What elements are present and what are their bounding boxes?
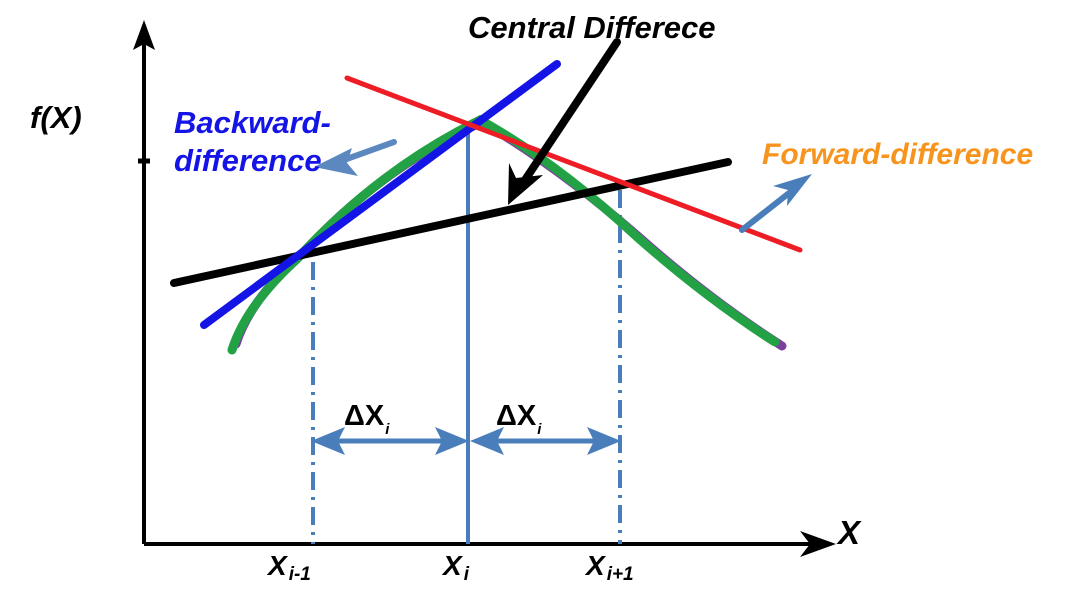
backward-difference-label-line2: difference	[174, 142, 331, 180]
delta-x-right-subscript: i	[537, 421, 541, 438]
x-tick-base-i-plus-1: X	[586, 550, 605, 581]
central-difference-label: Central Differece	[468, 12, 716, 43]
x-tick-label-i: Xi	[443, 550, 469, 582]
delta-x-left-label: ΔXi	[344, 400, 388, 433]
forward-difference-label: Forward-difference	[762, 140, 1033, 170]
x-tick-sub-i-plus-1: i+1	[605, 564, 634, 585]
x-tick-label-i-minus-1: Xi-1	[268, 550, 311, 582]
delta-x-right-symbol: ΔX	[496, 400, 536, 432]
x-tick-sub-i: i	[462, 564, 469, 585]
x-tick-base-i-minus-1: X	[268, 550, 287, 581]
diagram-canvas: f(X) X Backward- difference Central Diff…	[0, 0, 1080, 602]
delta-x-left-dimension-arrow-icon	[311, 427, 469, 455]
x-tick-sub-i-minus-1: i-1	[287, 564, 311, 585]
delta-x-left-subscript: i	[385, 421, 389, 438]
y-axis-label: f(X)	[30, 102, 82, 133]
delta-x-left-symbol: ΔX	[344, 400, 384, 432]
axes-group	[133, 20, 836, 557]
delta-x-right-label: ΔXi	[496, 400, 540, 433]
x-tick-label-i-plus-1: Xi+1	[586, 550, 634, 582]
backward-difference-label-line1: Backward-	[174, 104, 331, 142]
x-tick-base-i: X	[443, 550, 462, 581]
forward-difference-arrow-icon	[742, 174, 812, 230]
x-axis-label: X	[838, 516, 860, 549]
delta-x-right-dimension-arrow-icon	[470, 427, 621, 455]
backward-difference-label: Backward- difference	[174, 104, 331, 180]
finite-difference-diagram	[0, 0, 1080, 602]
